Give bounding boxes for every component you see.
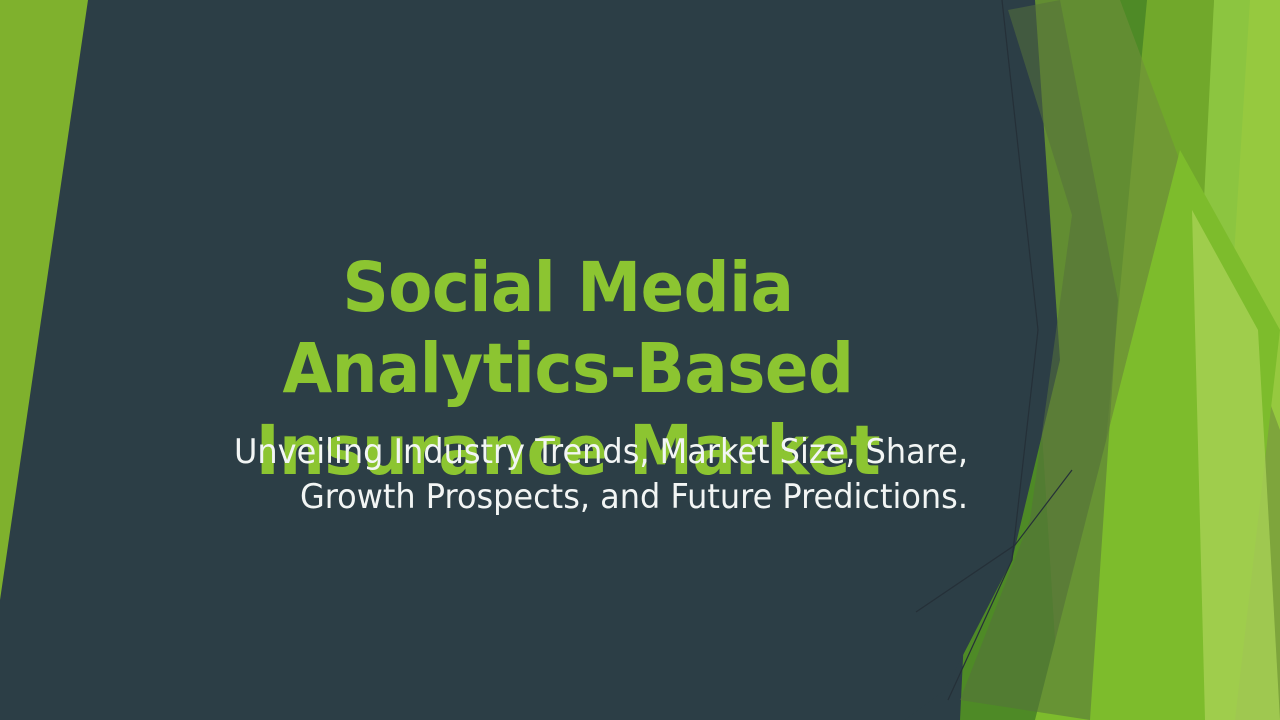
subtitle-block: Unveiling Industry Trends, Market Size, … — [168, 430, 968, 520]
page-subtitle: Unveiling Industry Trends, Market Size, … — [216, 430, 968, 520]
slide-text-layer: Social Media Analytics-Based Insurance M… — [0, 0, 1280, 720]
presentation-slide: Social Media Analytics-Based Insurance M… — [0, 0, 1280, 720]
